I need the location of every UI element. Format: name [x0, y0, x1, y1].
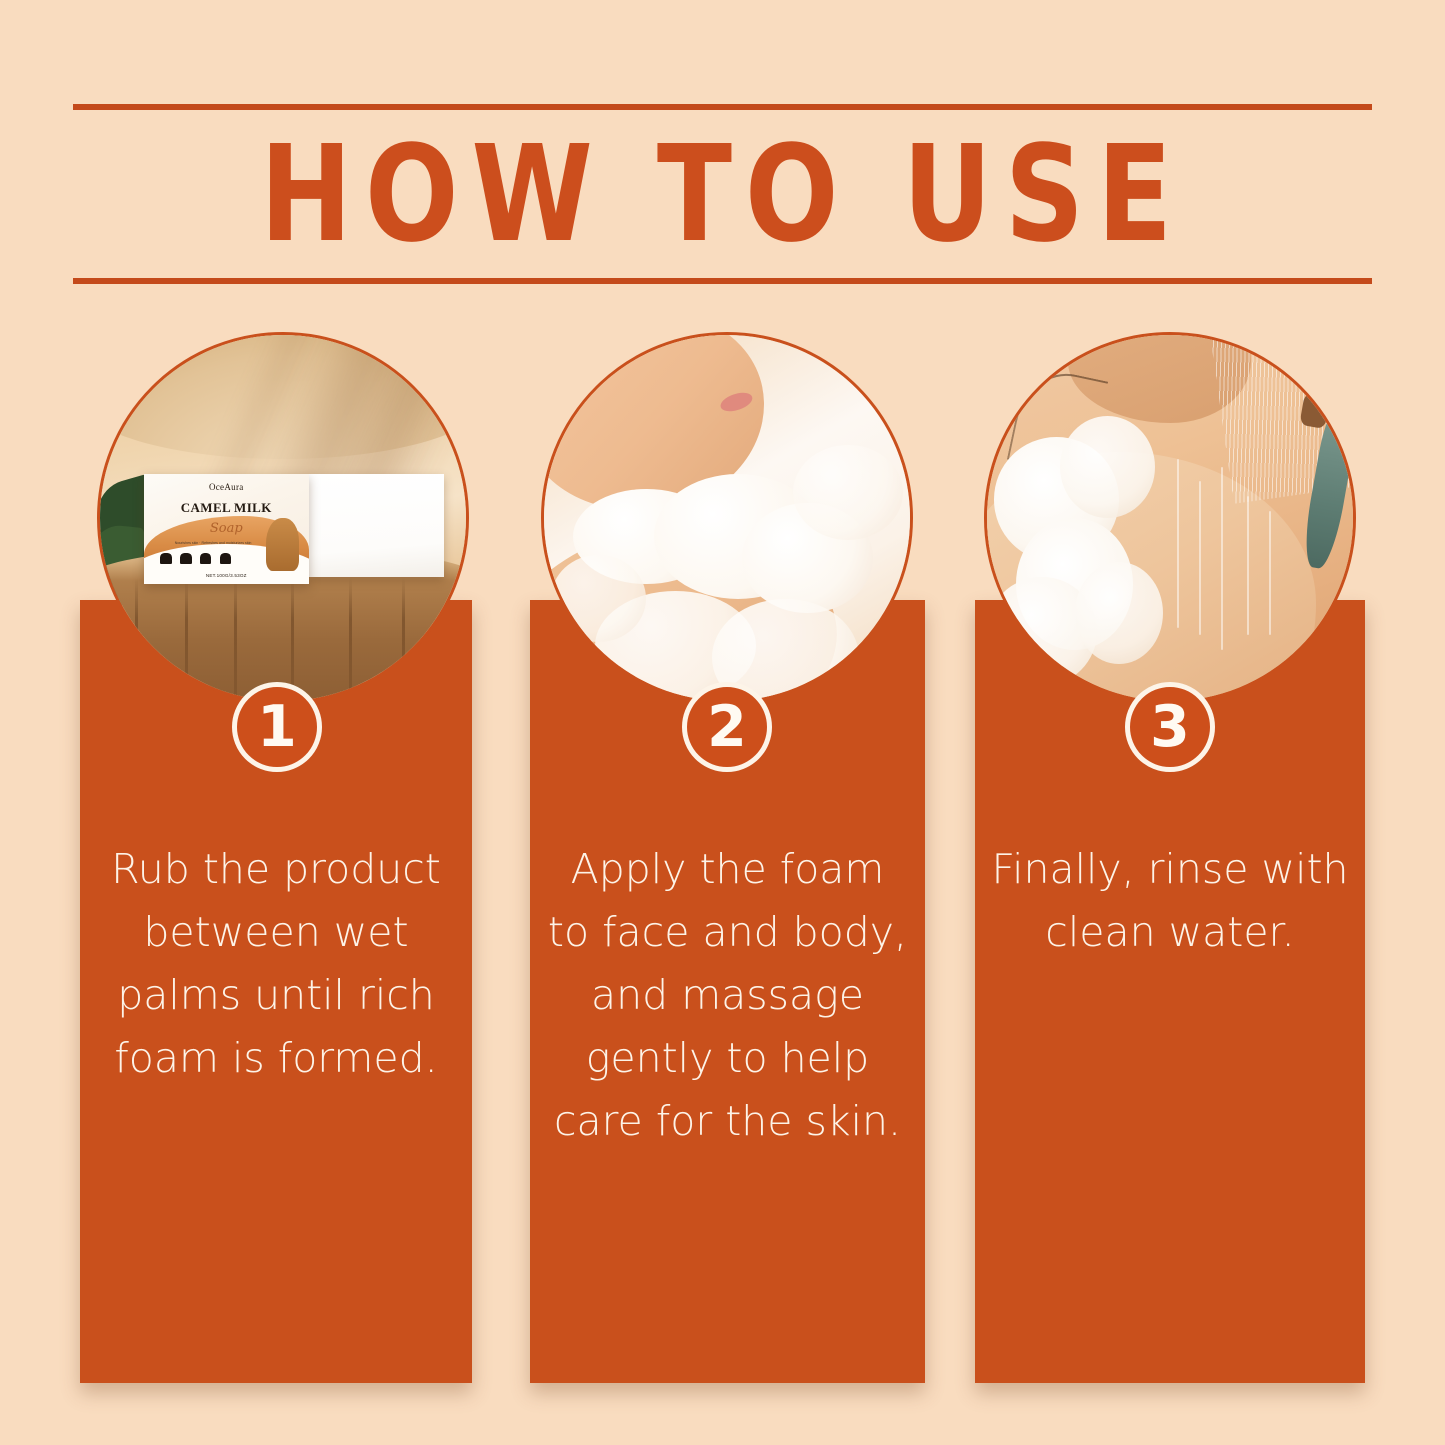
step-1-caption: Rub the product between wet palms until …	[96, 838, 456, 1090]
wood-grain	[185, 578, 188, 704]
step-2-photo	[541, 332, 913, 704]
step-3-caption: Finally, rinse with clean water.	[990, 838, 1350, 964]
water-drip	[1199, 481, 1201, 635]
camel-silhouette	[180, 553, 192, 564]
shower-head-connector	[1299, 392, 1330, 429]
rinse-shower-image	[987, 335, 1353, 701]
step-2-number-badge: 2	[682, 682, 772, 772]
water-drip	[1247, 496, 1249, 635]
camel-silhouette	[220, 553, 232, 564]
header: HOW TO USE	[73, 104, 1372, 284]
step-1-photo: OceAura CAMEL MILK Soap Nourishes skin ·…	[97, 332, 469, 704]
page-title: HOW TO USE	[125, 110, 1320, 278]
foam-blob	[551, 555, 646, 643]
wood-grain	[402, 578, 405, 704]
step-3-number-badge: 3	[1125, 682, 1215, 772]
foam-blob	[793, 445, 903, 540]
step-1-number-badge: 1	[232, 682, 322, 772]
water-drip	[1269, 511, 1271, 635]
product-box: OceAura CAMEL MILK Soap Nourishes skin ·…	[144, 474, 309, 584]
water-drip	[1177, 459, 1179, 627]
bath-foam-image	[544, 335, 910, 701]
soap-bar	[309, 474, 444, 576]
foam-blob	[1060, 416, 1155, 518]
step-3-photo	[984, 332, 1356, 704]
package-script-word: Soap	[144, 521, 309, 536]
camel-silhouette	[200, 553, 212, 564]
wood-grain	[349, 578, 352, 704]
soap-on-wood-image: OceAura CAMEL MILK Soap Nourishes skin ·…	[100, 335, 466, 701]
header-rule-bottom	[73, 278, 1372, 284]
package-name: CAMEL MILK	[144, 500, 309, 516]
package-tagline: Nourishes skin · Refreshes and moisturiz…	[167, 540, 259, 546]
water-drip	[1221, 467, 1223, 650]
package-net-weight: NET.100G/3.53OZ	[144, 573, 309, 578]
wood-grain	[234, 578, 237, 704]
step-2-caption: Apply the foam to face and body, and mas…	[545, 838, 910, 1153]
package-brand: OceAura	[144, 482, 309, 492]
camel-silhouette	[160, 553, 172, 564]
wood-grain	[135, 578, 138, 704]
foam-blob	[1075, 562, 1163, 664]
